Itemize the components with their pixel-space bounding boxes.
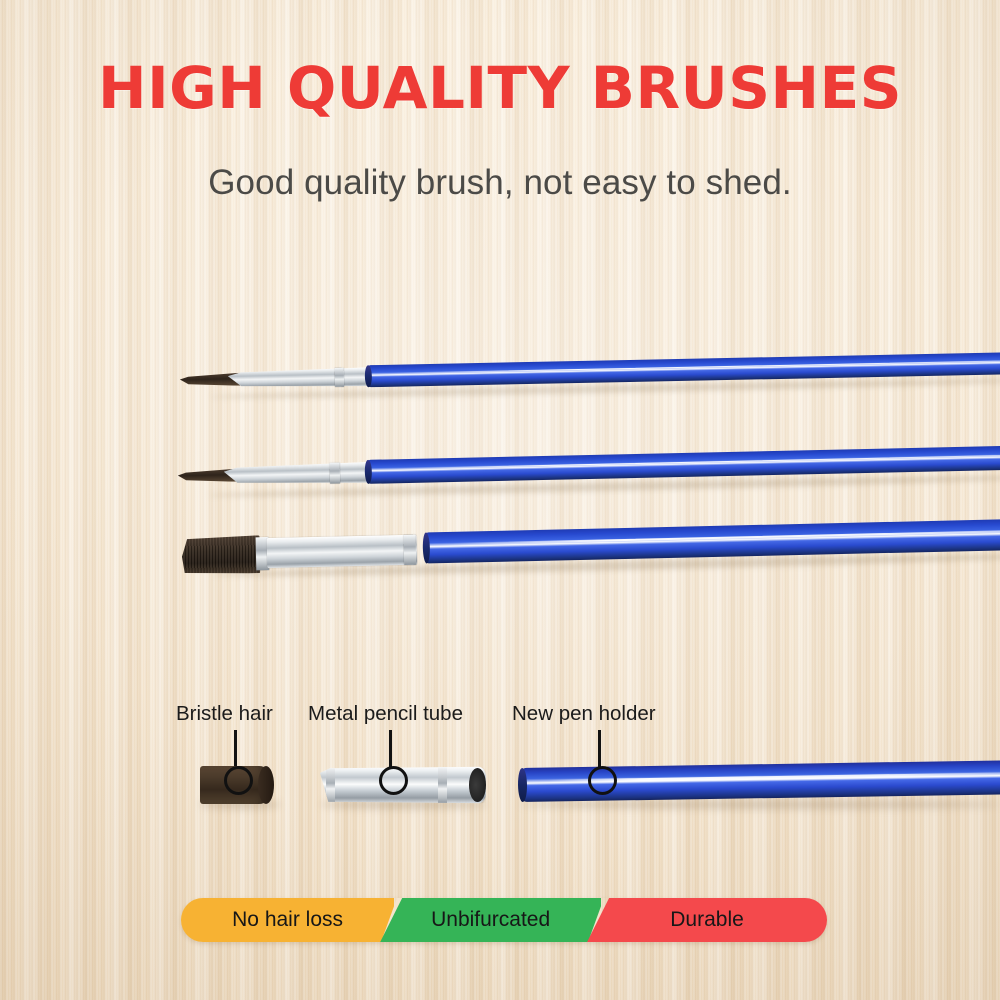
callout-marker-metal-pencil-tube (379, 766, 408, 795)
handle-highlight (396, 359, 1000, 374)
product-infographic: HIGH QUALITY BRUSHES Good quality brush,… (0, 0, 1000, 1000)
callout-marker-new-pen-holder (588, 766, 617, 795)
bristle-end-cap (258, 766, 274, 804)
tube-open-end (469, 768, 486, 801)
feature-label: Unbifurcated (431, 908, 550, 932)
feature-badge-durable[interactable]: Durable (587, 898, 827, 942)
metal-ferrule (267, 535, 418, 568)
callout-label-new-pen-holder: New pen holder (512, 702, 656, 726)
metal-ferrule (224, 462, 372, 486)
callout-label-bristle-hair: Bristle hair (176, 702, 273, 726)
feature-label: Durable (670, 908, 744, 932)
page-title: HIGH QUALITY BRUSHES (0, 54, 1000, 122)
handle-end-cap (518, 768, 528, 802)
background-vignette (0, 0, 1000, 1000)
handle-collar (365, 365, 372, 387)
tube-band (326, 766, 335, 804)
bristle-block (182, 535, 261, 575)
feature-label: No hair loss (232, 908, 343, 932)
ferrule-band (330, 462, 340, 483)
feature-badge-bar: No hair loss Unbifurcated Durable (181, 898, 827, 942)
feature-badge-unbifurcated[interactable]: Unbifurcated (380, 898, 601, 942)
handle-collar (365, 460, 373, 484)
feature-badge-no-hair-loss[interactable]: No hair loss (181, 898, 394, 942)
callout-label-metal-pencil-tube: Metal pencil tube (308, 702, 463, 726)
handle-highlight (452, 529, 1000, 545)
tube-band (438, 766, 447, 804)
handle-collar (423, 532, 431, 563)
ferrule-band (404, 535, 417, 565)
ferrule-band (335, 368, 344, 387)
page-subtitle: Good quality brush, not easy to shed. (0, 163, 1000, 203)
callout-marker-bristle-hair (224, 766, 253, 795)
metal-ferrule (228, 367, 373, 389)
piece-shadow (520, 800, 1000, 809)
bristle-tip (180, 373, 240, 387)
